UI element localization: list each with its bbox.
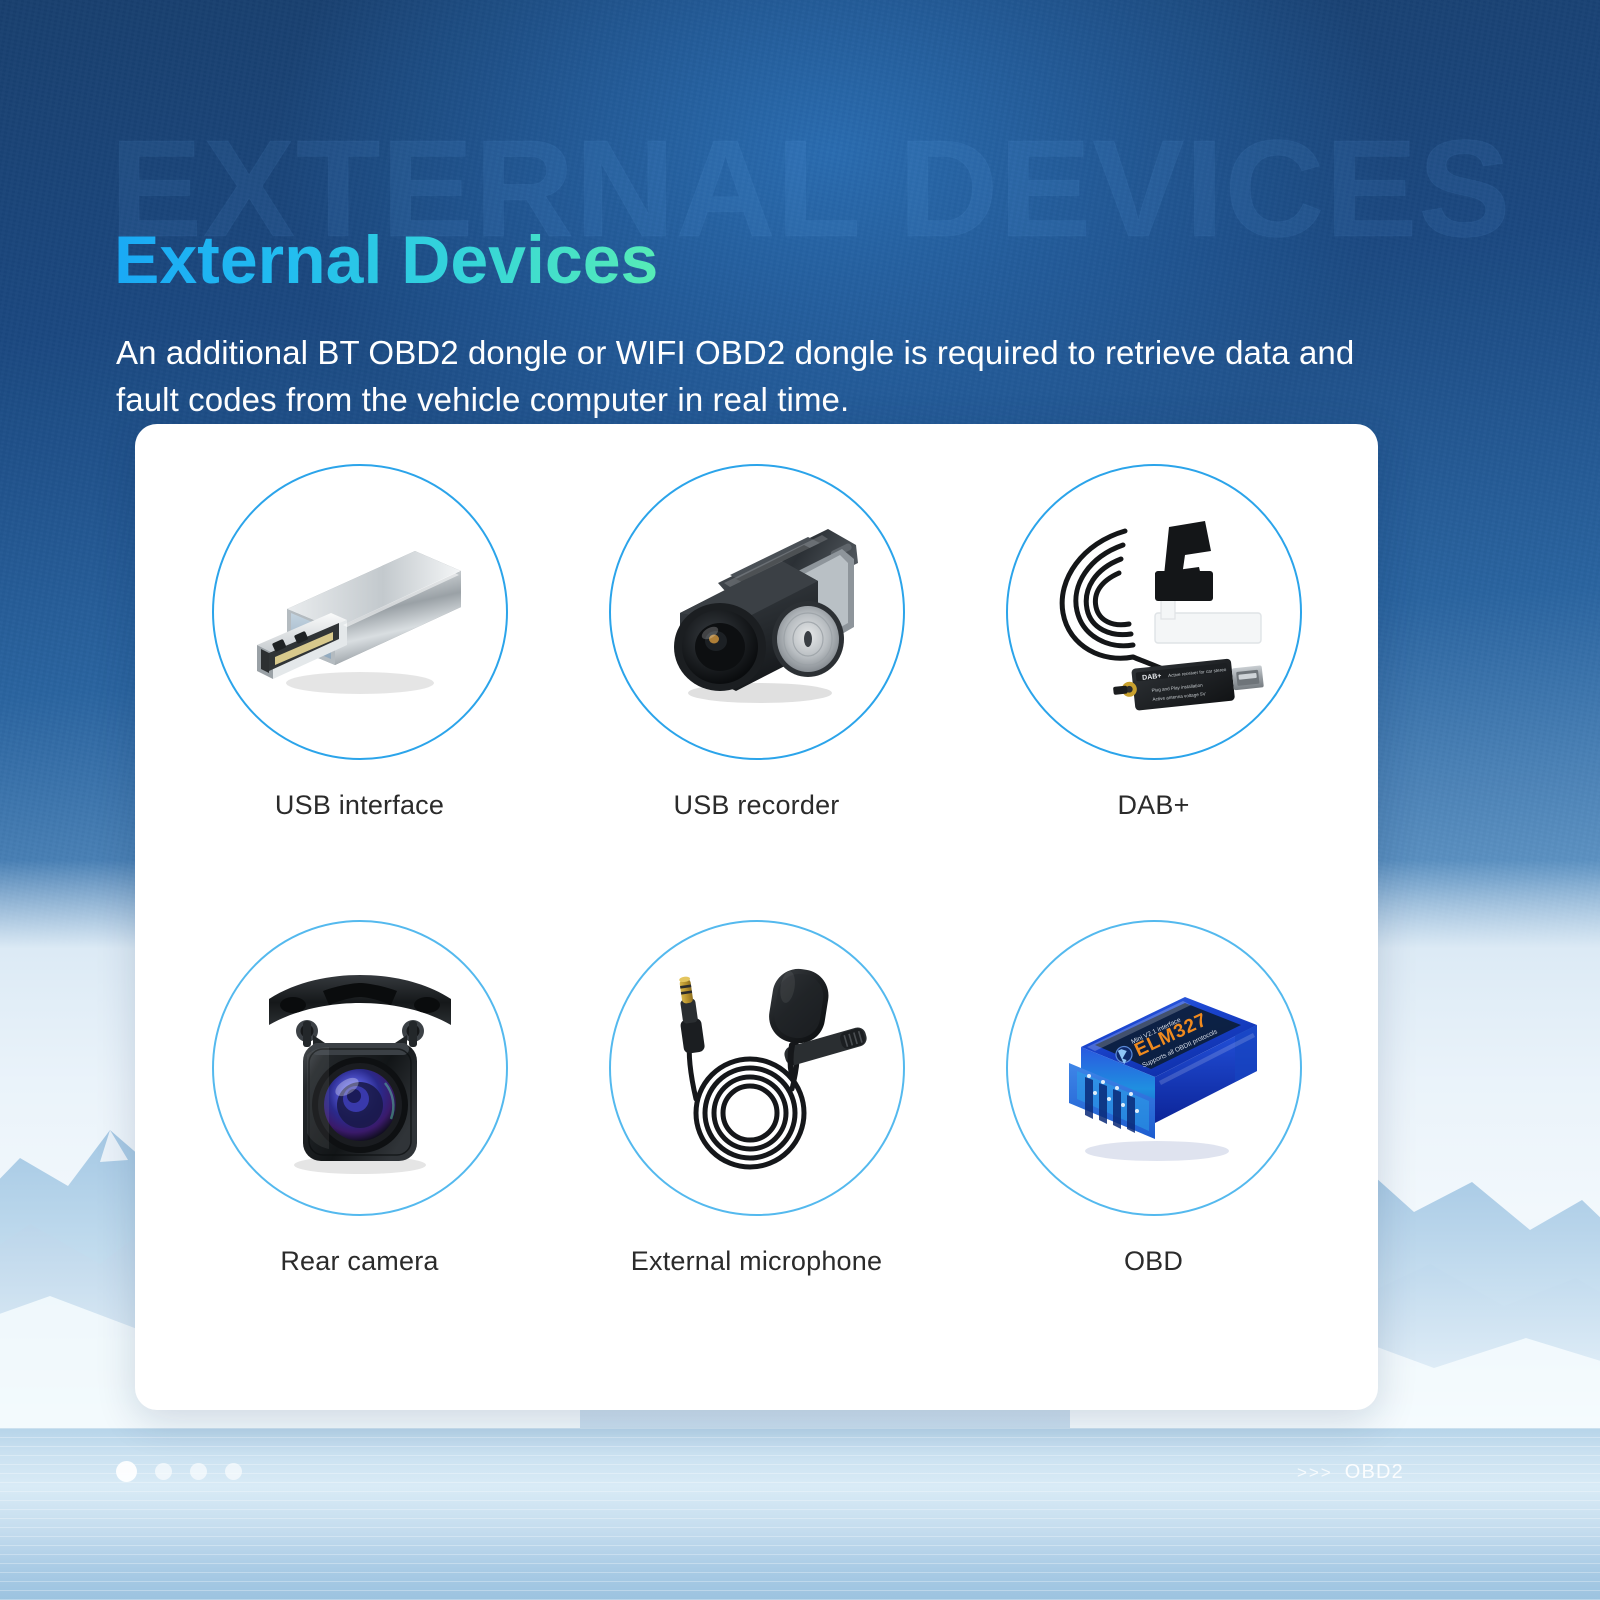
- device-cell-usb-recorder[interactable]: USB recorder: [558, 464, 955, 920]
- device-ring: [609, 464, 905, 760]
- device-label: USB interface: [275, 790, 444, 821]
- device-ring: [212, 920, 508, 1216]
- obd2-dongle-icon: ELM327 Mini V2.1 interface Supports all …: [1029, 943, 1279, 1193]
- dab-antenna-icon: DAB+ Active receiver for car stereo Plug…: [1029, 487, 1279, 737]
- device-cell-rear-camera[interactable]: Rear camera: [161, 920, 558, 1376]
- device-label: DAB+: [1117, 790, 1189, 821]
- device-ring: [212, 464, 508, 760]
- pagination-dot-2[interactable]: [155, 1463, 172, 1480]
- pagination-dot-4[interactable]: [225, 1463, 242, 1480]
- usb-flash-drive-icon: [235, 487, 485, 737]
- pagination-dots[interactable]: [116, 1461, 242, 1482]
- lavalier-microphone-icon: [632, 943, 882, 1193]
- water-reflection: [0, 1428, 1600, 1600]
- device-cell-dab[interactable]: DAB+ Active receiver for car stereo Plug…: [955, 464, 1352, 920]
- device-cell-obd[interactable]: ELM327 Mini V2.1 interface Supports all …: [955, 920, 1352, 1376]
- devices-card: USB interface: [135, 424, 1378, 1410]
- device-label: External microphone: [631, 1246, 882, 1277]
- device-ring: [609, 920, 905, 1216]
- device-ring: ELM327 Mini V2.1 interface Supports all …: [1006, 920, 1302, 1216]
- device-label: OBD: [1124, 1246, 1183, 1277]
- pagination-dot-3[interactable]: [190, 1463, 207, 1480]
- dashcam-icon: [632, 487, 882, 737]
- device-cell-usb-interface[interactable]: USB interface: [161, 464, 558, 920]
- pagination-dot-1[interactable]: [116, 1461, 137, 1482]
- water-ripples: [0, 1428, 1600, 1600]
- page-title: External Devices: [114, 226, 658, 294]
- device-label: Rear camera: [280, 1246, 438, 1277]
- device-ring: DAB+ Active receiver for car stereo Plug…: [1006, 464, 1302, 760]
- rear-camera-icon: [235, 943, 485, 1193]
- device-label: USB recorder: [674, 790, 840, 821]
- corner-tag: >>> OBD2: [1297, 1461, 1404, 1484]
- page-subtitle: An additional BT OBD2 dongle or WIFI OBD…: [116, 330, 1366, 424]
- corner-tag-label: OBD2: [1345, 1461, 1404, 1484]
- device-cell-external-microphone[interactable]: External microphone: [558, 920, 955, 1376]
- chevron-right-icon: >>>: [1297, 1463, 1333, 1483]
- devices-grid: USB interface: [135, 424, 1378, 1410]
